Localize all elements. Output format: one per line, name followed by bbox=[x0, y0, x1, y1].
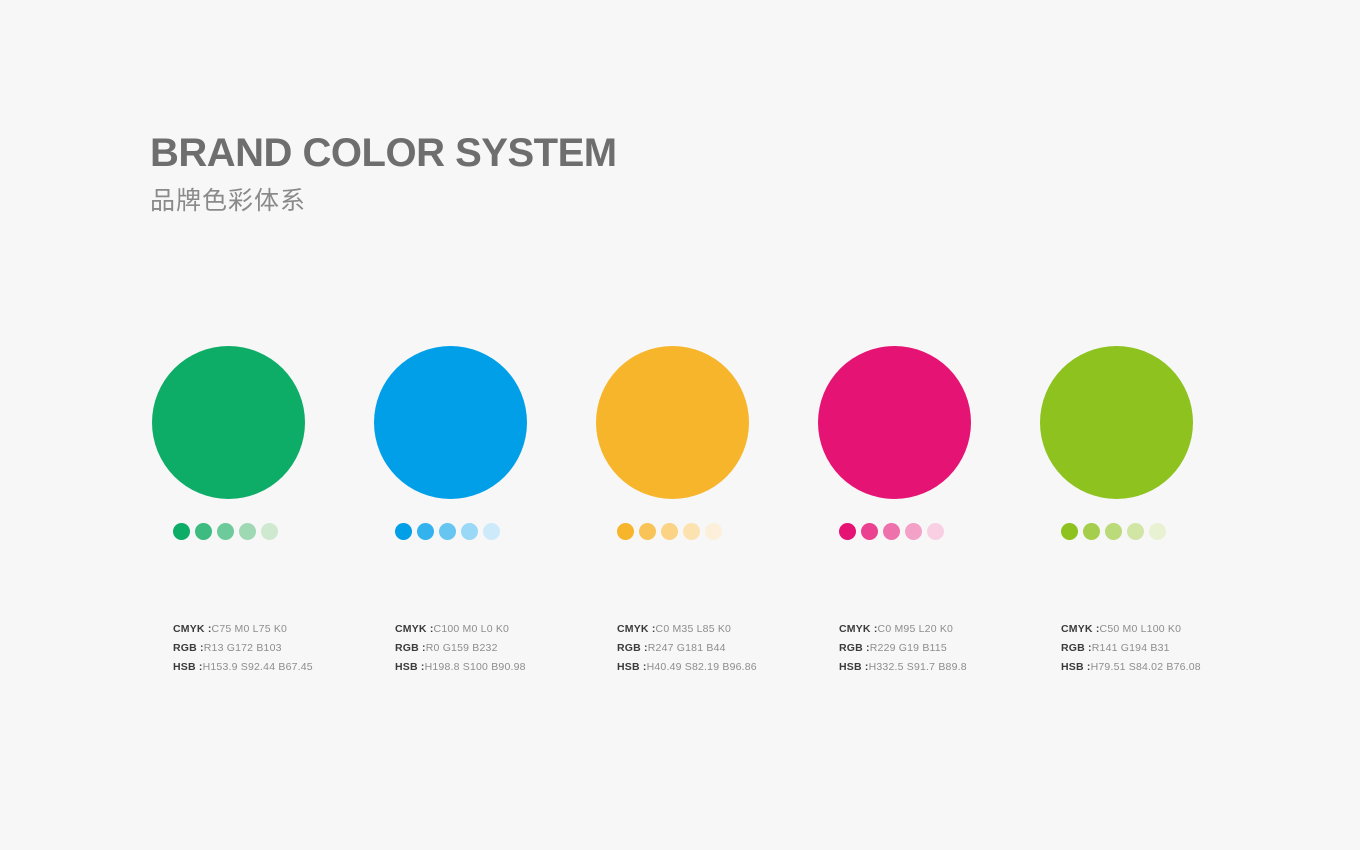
tint-dot bbox=[1149, 523, 1166, 540]
tint-row-orange bbox=[617, 523, 816, 540]
spec-value-rgb: R141 G194 B31 bbox=[1092, 642, 1170, 654]
tint-dot bbox=[839, 523, 856, 540]
tint-row-green bbox=[173, 523, 372, 540]
page-subtitle: 品牌色彩体系 bbox=[150, 184, 617, 218]
spec-label-cmyk: CMYK : bbox=[395, 623, 434, 635]
tint-dot bbox=[683, 523, 700, 540]
spec-cmyk: CMYK :C0 M95 L20 K0 bbox=[839, 620, 1038, 639]
tint-dot bbox=[483, 523, 500, 540]
spec-label-rgb: RGB : bbox=[1061, 642, 1092, 654]
tint-dot bbox=[261, 523, 278, 540]
swatch-column-green bbox=[150, 346, 372, 540]
spec-hsb: HSB :H79.51 S84.02 B76.08 bbox=[1061, 658, 1260, 677]
tint-dot bbox=[705, 523, 722, 540]
tint-dot bbox=[173, 523, 190, 540]
tint-dot bbox=[195, 523, 212, 540]
spec-value-cmyk: C0 M95 L20 K0 bbox=[878, 623, 954, 635]
color-swatch-row bbox=[150, 346, 1220, 540]
spec-value-cmyk: C75 M0 L75 K0 bbox=[212, 623, 288, 635]
spec-value-cmyk: C50 M0 L100 K0 bbox=[1100, 623, 1182, 635]
spec-column-blue: CMYK :C100 M0 L0 K0 RGB :R0 G159 B232 HS… bbox=[372, 620, 594, 677]
spec-label-rgb: RGB : bbox=[395, 642, 426, 654]
tint-dot bbox=[417, 523, 434, 540]
spec-column-lime: CMYK :C50 M0 L100 K0 RGB :R141 G194 B31 … bbox=[1038, 620, 1260, 677]
spec-rgb: RGB :R141 G194 B31 bbox=[1061, 639, 1260, 658]
tint-dot bbox=[439, 523, 456, 540]
tint-dot bbox=[217, 523, 234, 540]
page-title: BRAND COLOR SYSTEM bbox=[150, 130, 617, 176]
spec-hsb: HSB :H332.5 S91.7 B89.8 bbox=[839, 658, 1038, 677]
spec-column-green: CMYK :C75 M0 L75 K0 RGB :R13 G172 B103 H… bbox=[150, 620, 372, 677]
tint-dot bbox=[905, 523, 922, 540]
tint-dot bbox=[461, 523, 478, 540]
spec-hsb: HSB :H153.9 S92.44 B67.45 bbox=[173, 658, 372, 677]
tint-dot bbox=[1105, 523, 1122, 540]
tint-dot bbox=[617, 523, 634, 540]
spec-rgb: RGB :R229 G19 B115 bbox=[839, 639, 1038, 658]
tint-dot bbox=[661, 523, 678, 540]
color-circle-magenta bbox=[818, 346, 971, 499]
spec-label-hsb: HSB : bbox=[173, 661, 203, 673]
spec-column-orange: CMYK :C0 M35 L85 K0 RGB :R247 G181 B44 H… bbox=[594, 620, 816, 677]
tint-dot bbox=[883, 523, 900, 540]
spec-cmyk: CMYK :C100 M0 L0 K0 bbox=[395, 620, 594, 639]
tint-dot bbox=[1061, 523, 1078, 540]
spec-value-rgb: R247 G181 B44 bbox=[648, 642, 726, 654]
spec-cmyk: CMYK :C0 M35 L85 K0 bbox=[617, 620, 816, 639]
spec-cmyk: CMYK :C50 M0 L100 K0 bbox=[1061, 620, 1260, 639]
tint-row-lime bbox=[1061, 523, 1260, 540]
color-circle-blue bbox=[374, 346, 527, 499]
color-spec-row: CMYK :C75 M0 L75 K0 RGB :R13 G172 B103 H… bbox=[150, 620, 1240, 677]
spec-hsb: HSB :H198.8 S100 B90.98 bbox=[395, 658, 594, 677]
spec-value-hsb: H79.51 S84.02 B76.08 bbox=[1091, 661, 1201, 673]
spec-value-cmyk: C100 M0 L0 K0 bbox=[434, 623, 510, 635]
spec-column-magenta: CMYK :C0 M95 L20 K0 RGB :R229 G19 B115 H… bbox=[816, 620, 1038, 677]
tint-dot bbox=[1127, 523, 1144, 540]
swatch-column-magenta bbox=[816, 346, 1038, 540]
spec-value-hsb: H332.5 S91.7 B89.8 bbox=[869, 661, 967, 673]
swatch-column-blue bbox=[372, 346, 594, 540]
tint-dot bbox=[927, 523, 944, 540]
tint-dot bbox=[395, 523, 412, 540]
spec-value-hsb: H153.9 S92.44 B67.45 bbox=[203, 661, 313, 673]
spec-label-rgb: RGB : bbox=[173, 642, 204, 654]
brand-color-system-page: BRAND COLOR SYSTEM 品牌色彩体系 bbox=[0, 0, 1360, 850]
tint-dot bbox=[239, 523, 256, 540]
spec-label-hsb: HSB : bbox=[617, 661, 647, 673]
spec-value-rgb: R229 G19 B115 bbox=[870, 642, 947, 654]
spec-rgb: RGB :R247 G181 B44 bbox=[617, 639, 816, 658]
tint-dot bbox=[861, 523, 878, 540]
spec-label-cmyk: CMYK : bbox=[1061, 623, 1100, 635]
tint-row-blue bbox=[395, 523, 594, 540]
spec-label-cmyk: CMYK : bbox=[617, 623, 656, 635]
spec-label-cmyk: CMYK : bbox=[173, 623, 212, 635]
header: BRAND COLOR SYSTEM 品牌色彩体系 bbox=[150, 130, 617, 218]
spec-value-hsb: H198.8 S100 B90.98 bbox=[425, 661, 526, 673]
swatch-column-orange bbox=[594, 346, 816, 540]
spec-value-hsb: H40.49 S82.19 B96.86 bbox=[647, 661, 757, 673]
color-circle-green bbox=[152, 346, 305, 499]
spec-label-hsb: HSB : bbox=[839, 661, 869, 673]
tint-row-magenta bbox=[839, 523, 1038, 540]
spec-label-rgb: RGB : bbox=[617, 642, 648, 654]
spec-value-cmyk: C0 M35 L85 K0 bbox=[656, 623, 732, 635]
tint-dot bbox=[1083, 523, 1100, 540]
spec-label-hsb: HSB : bbox=[395, 661, 425, 673]
swatch-column-lime bbox=[1038, 346, 1260, 540]
tint-dot bbox=[639, 523, 656, 540]
spec-rgb: RGB :R13 G172 B103 bbox=[173, 639, 372, 658]
spec-value-rgb: R13 G172 B103 bbox=[204, 642, 282, 654]
spec-label-hsb: HSB : bbox=[1061, 661, 1091, 673]
spec-value-rgb: R0 G159 B232 bbox=[426, 642, 498, 654]
color-circle-orange bbox=[596, 346, 749, 499]
color-circle-lime bbox=[1040, 346, 1193, 499]
spec-label-rgb: RGB : bbox=[839, 642, 870, 654]
spec-hsb: HSB :H40.49 S82.19 B96.86 bbox=[617, 658, 816, 677]
spec-label-cmyk: CMYK : bbox=[839, 623, 878, 635]
spec-rgb: RGB :R0 G159 B232 bbox=[395, 639, 594, 658]
spec-cmyk: CMYK :C75 M0 L75 K0 bbox=[173, 620, 372, 639]
